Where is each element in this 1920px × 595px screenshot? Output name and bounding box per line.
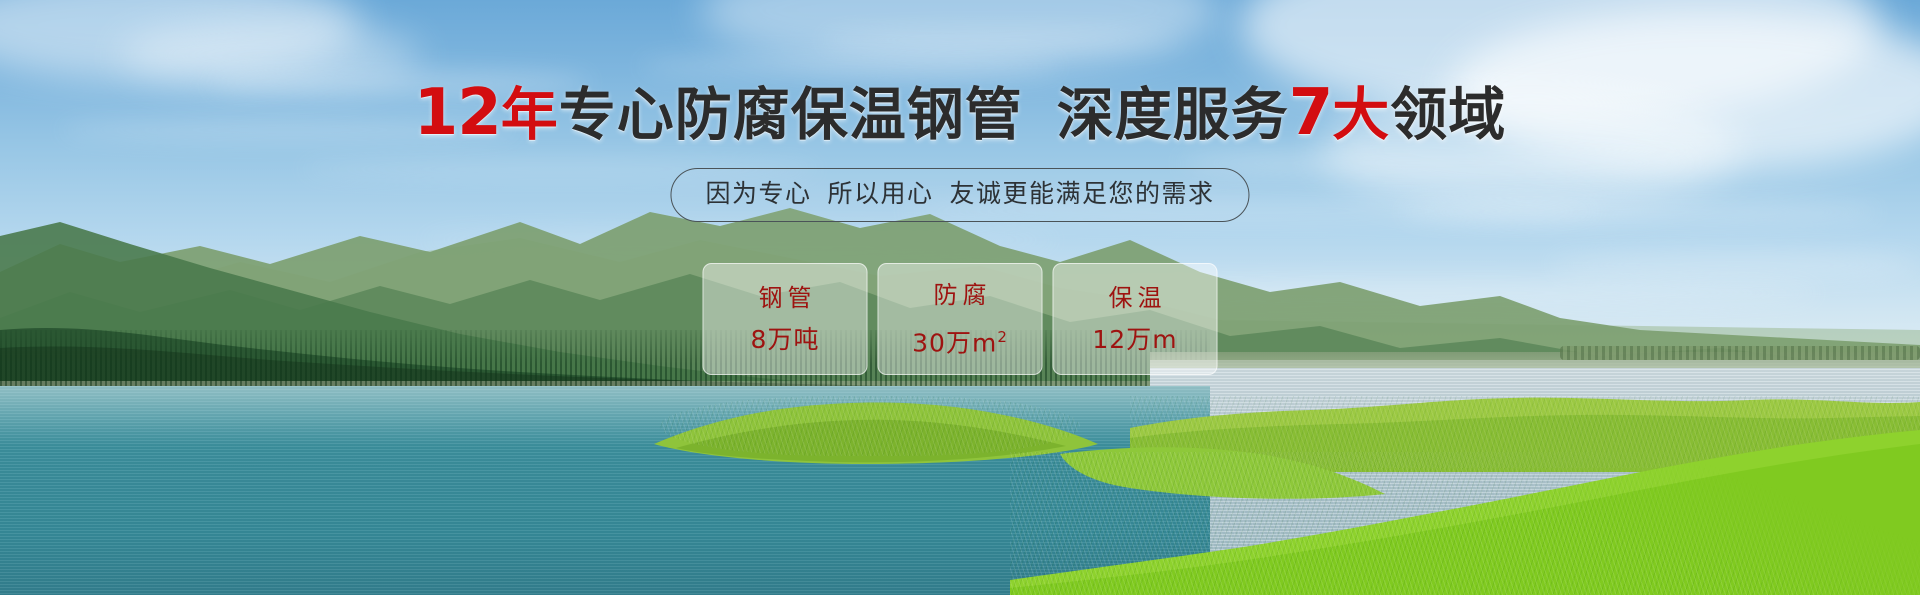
headline-service: 深度服务 — [1057, 82, 1289, 148]
stat-card-anticorrosion: 防腐 30万m2 — [878, 263, 1043, 375]
headline-years-unit: 年 — [501, 82, 559, 148]
page-title: 12年专心防腐保温钢管深度服务7大领域 — [0, 82, 1920, 146]
headline-seven: 7 — [1289, 76, 1333, 150]
headline-main: 专心防腐保温钢管 — [559, 82, 1023, 148]
headline-big: 大 — [1332, 82, 1390, 148]
headline-fields: 领域 — [1390, 82, 1506, 148]
stat-card-value: 12万m — [1092, 326, 1177, 354]
tagline-pill: 因为专心所以用心友诚更能满足您的需求 — [670, 168, 1249, 222]
tagline-segment-1: 因为专心 — [705, 179, 811, 208]
tagline-segment-3: 友诚更能满足您的需求 — [950, 179, 1215, 208]
banner-content: 12年专心防腐保温钢管深度服务7大领域 因为专心所以用心友诚更能满足您的需求 钢… — [0, 0, 1920, 595]
stat-card-insulation: 保温 12万m — [1053, 263, 1218, 375]
stat-card-label: 钢管 — [754, 284, 817, 312]
stat-value-number: 12 — [1092, 325, 1126, 354]
promo-banner: 12年专心防腐保温钢管深度服务7大领域 因为专心所以用心友诚更能满足您的需求 钢… — [0, 0, 1920, 595]
stat-value-number: 30 — [912, 328, 946, 357]
stat-card-steel-pipe: 钢管 8万吨 — [703, 263, 868, 375]
stat-value-superscript: 2 — [997, 328, 1008, 346]
headline-years-number: 12 — [414, 76, 501, 150]
stat-card-label: 保温 — [1104, 284, 1167, 312]
stat-card-label: 防腐 — [929, 281, 992, 309]
stat-card-group: 钢管 8万吨 防腐 30万m2 保温 12万m — [703, 263, 1218, 375]
stat-value-unit: 万m — [1126, 325, 1177, 354]
tagline-segment-2: 所以用心 — [827, 179, 933, 208]
stat-card-value: 8万吨 — [751, 326, 820, 354]
stat-value-number: 8 — [751, 325, 768, 354]
stat-card-value: 30万m2 — [912, 323, 1008, 357]
stat-value-unit: 万吨 — [767, 325, 819, 354]
stat-value-unit: 万m — [946, 328, 997, 357]
